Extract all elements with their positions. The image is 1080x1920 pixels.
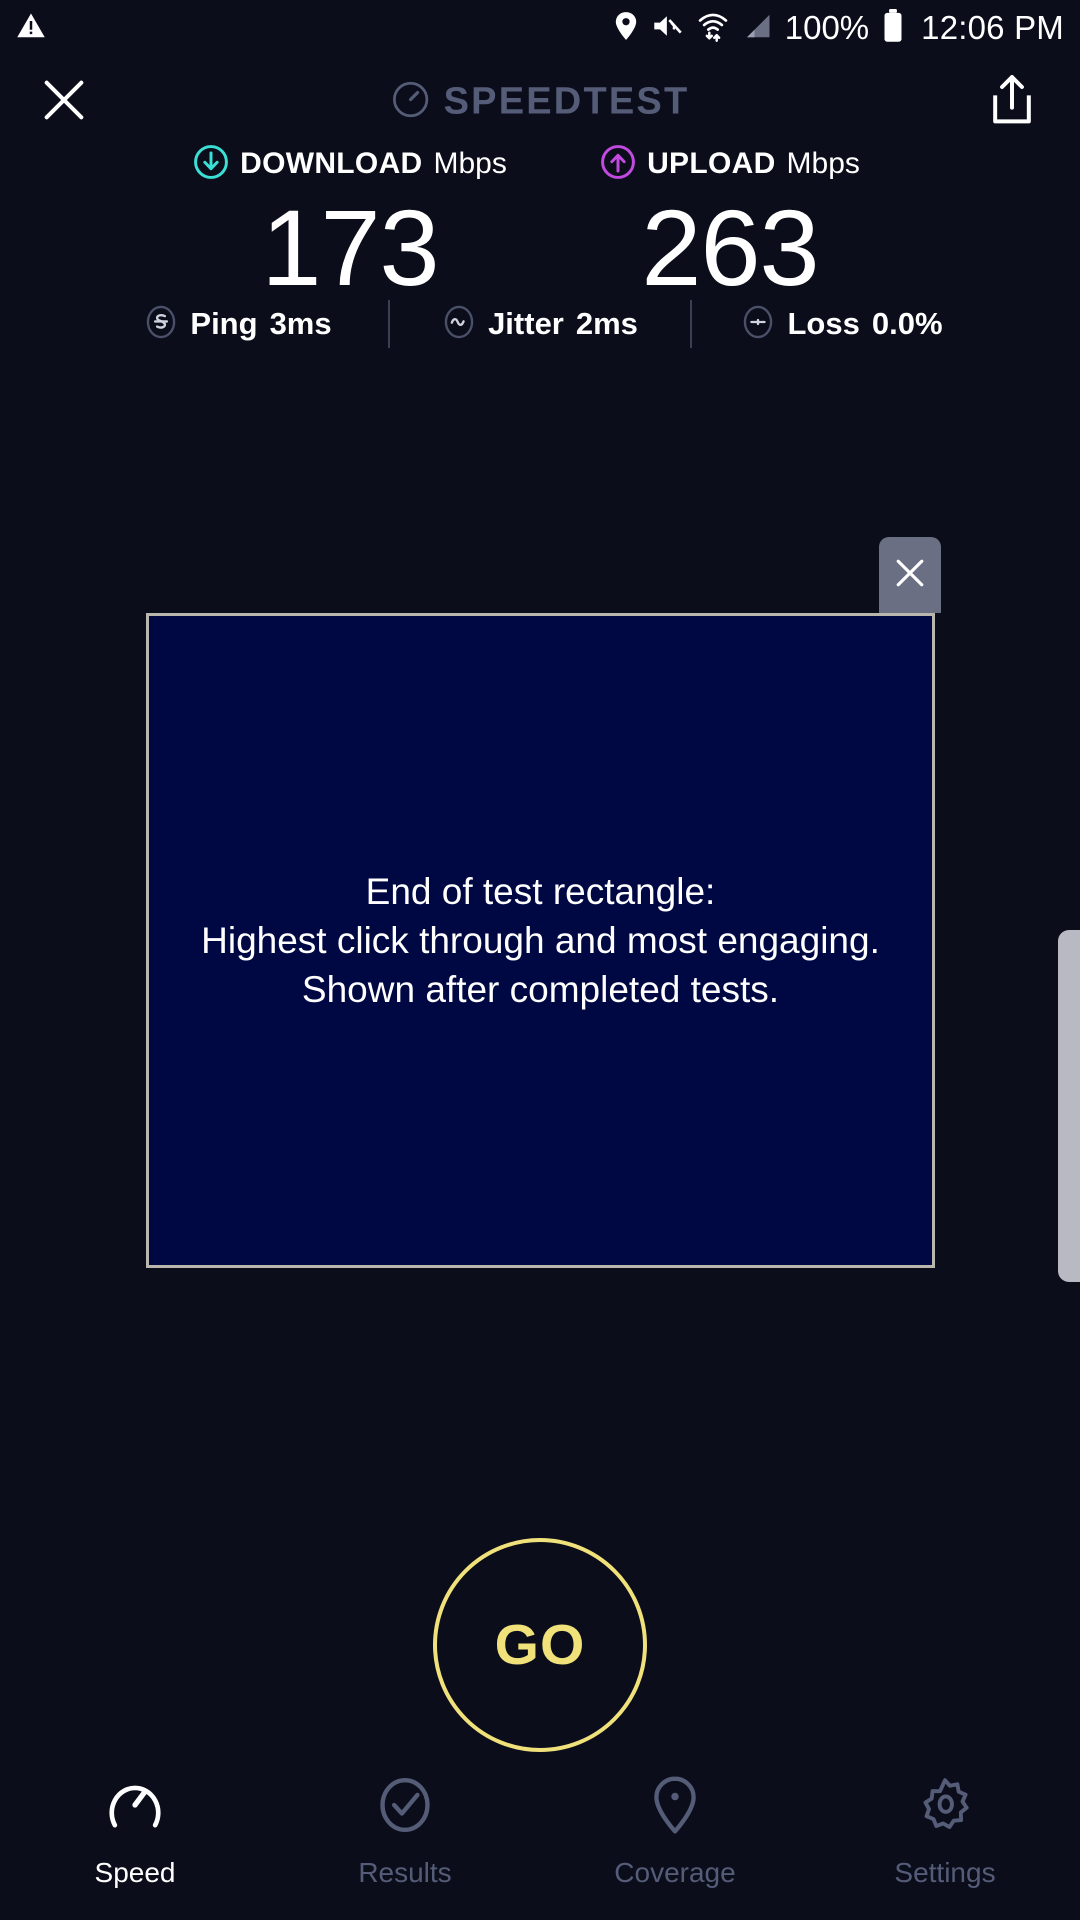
scrollbar-thumb[interactable] [1058,930,1080,1282]
upload-result: UPLOAD Mbps 263 [540,144,920,302]
nav-item-results[interactable]: Results [270,1774,540,1889]
metric-ping: Ping 3ms [88,305,388,344]
speedometer-icon [391,80,431,125]
brand-logo: SPEEDTEST [391,80,690,125]
location-pin-icon [644,1774,706,1841]
upload-value: 263 [641,194,818,302]
ping-icon [144,305,178,344]
nav-label-speed: Speed [95,1857,176,1889]
gear-icon [914,1774,976,1841]
go-button[interactable]: GO [433,1538,647,1752]
download-result: DOWNLOAD Mbps 173 [160,144,540,302]
loss-icon [741,305,775,344]
nav-label-results: Results [358,1857,451,1889]
ad-close-button[interactable] [879,537,941,613]
ad-line-2: Highest click through and most engaging. [167,916,914,965]
upload-header: UPLOAD Mbps [600,144,860,184]
volume-muted-icon [652,11,684,46]
close-button[interactable] [32,70,96,134]
status-bar-left [16,11,46,46]
jitter-icon [442,305,476,344]
ping-label: Ping [190,306,257,342]
loss-value: 0.0% [872,306,943,342]
metrics-row: Ping 3ms Jitter 2ms [0,300,1080,348]
ad-line-3: Shown after completed tests. [167,965,914,1014]
status-bar: 100% 12:06 PM [0,0,1080,56]
battery-full-icon [882,9,904,48]
speedometer-icon [104,1774,166,1841]
close-x-icon [40,76,88,129]
battery-percent-label: 100% [785,9,869,47]
metric-jitter: Jitter 2ms [390,305,690,344]
advertisement-container: End of test rectangle: Highest click thr… [146,613,935,1268]
download-label: DOWNLOAD [240,147,422,181]
download-header: DOWNLOAD Mbps [193,144,507,184]
upload-label: UPLOAD [647,147,775,181]
arrow-down-circle-icon [193,144,229,185]
rate-row: DOWNLOAD Mbps 173 UPLOAD Mbps [0,144,1080,302]
share-button[interactable] [982,72,1042,132]
ad-text-block: End of test rectangle: Highest click thr… [149,867,932,1015]
location-pin-icon [613,11,639,46]
nav-item-coverage[interactable]: Coverage [540,1774,810,1889]
ping-value: 3ms [270,306,332,342]
share-upload-icon [988,74,1036,131]
nav-label-coverage: Coverage [614,1857,735,1889]
bottom-navigation: Speed Results Coverage [0,1760,1080,1920]
warning-triangle-icon [16,11,46,46]
download-unit: Mbps [434,147,507,181]
speedtest-app-screen: 100% 12:06 PM [0,0,1080,1920]
wifi-transfer-icon [697,10,729,47]
jitter-label: Jitter [488,306,564,342]
upload-unit: Mbps [787,147,860,181]
arrow-up-circle-icon [600,144,636,185]
go-button-label: GO [495,1612,586,1678]
jitter-value: 2ms [576,306,638,342]
close-x-icon [893,556,927,595]
cellular-signal-icon [742,12,772,45]
check-circle-icon [374,1774,436,1841]
metric-loss: Loss 0.0% [692,305,992,344]
app-header: SPEEDTEST [0,60,1080,144]
nav-label-settings: Settings [894,1857,995,1889]
download-value: 173 [261,194,438,302]
results-summary: DOWNLOAD Mbps 173 UPLOAD Mbps [0,144,1080,302]
ad-line-1: End of test rectangle: [167,867,914,916]
brand-title: SPEEDTEST [444,81,690,124]
nav-item-settings[interactable]: Settings [810,1774,1080,1889]
status-bar-right: 100% 12:06 PM [613,9,1064,48]
loss-label: Loss [787,306,859,342]
clock-label: 12:06 PM [921,9,1064,47]
ad-banner[interactable]: End of test rectangle: Highest click thr… [146,613,935,1268]
nav-item-speed[interactable]: Speed [0,1774,270,1889]
